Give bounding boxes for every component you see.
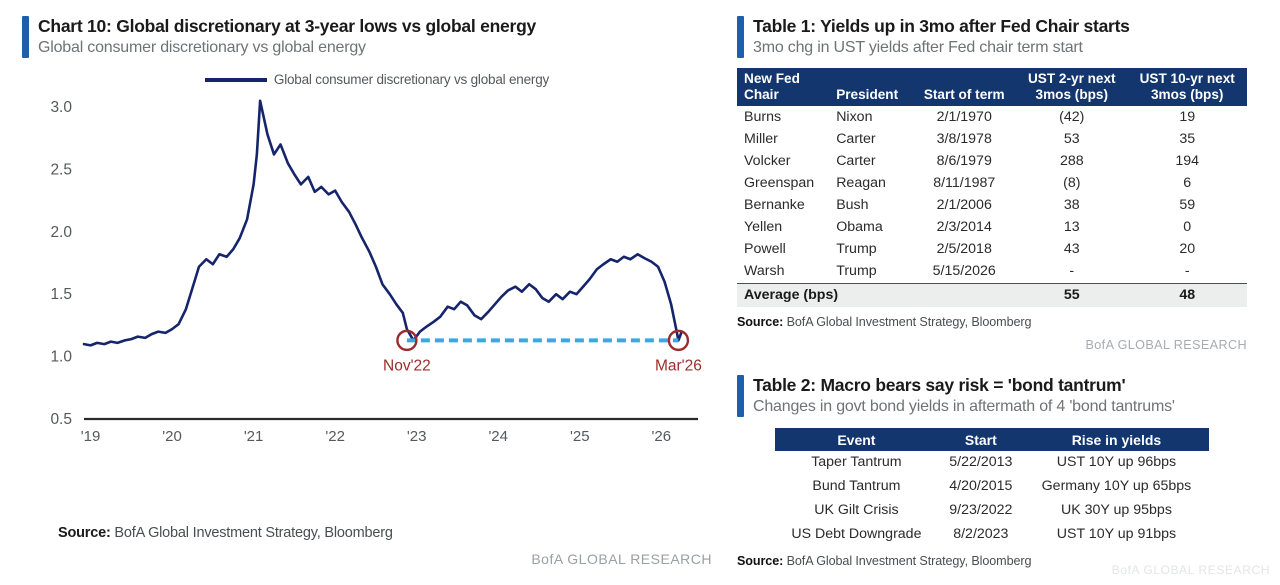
cell-event: UK Gilt Crisis bbox=[775, 499, 938, 523]
cell-start: 8/2/2023 bbox=[938, 523, 1024, 547]
col-rise-in-yields: Rise in yields bbox=[1024, 428, 1209, 451]
cell-president: Carter bbox=[829, 128, 912, 150]
table-row: PowellTrump2/5/20184320 bbox=[737, 239, 1247, 261]
col-start: Start bbox=[938, 428, 1024, 451]
col-ust2-line2: 3mos (bps) bbox=[1036, 87, 1109, 102]
col-start-of-term: Start of term bbox=[912, 68, 1016, 106]
cell-ust10yr: 35 bbox=[1127, 128, 1247, 150]
cell-president: Reagan bbox=[829, 173, 912, 195]
cell-start-of-term: 2/1/2006 bbox=[912, 195, 1016, 217]
table-row: Bund Tantrum4/20/2015Germany 10Y up 65bp… bbox=[775, 475, 1209, 499]
table1-body: BurnsNixon2/1/1970(42)19MillerCarter3/8/… bbox=[737, 106, 1247, 306]
col-ust2-line1: UST 2-yr next bbox=[1028, 71, 1116, 86]
table2-wrapper: Event Start Rise in yields Taper Tantrum… bbox=[737, 428, 1247, 546]
col-event: Event bbox=[775, 428, 938, 451]
annotation-label: Nov'22 bbox=[383, 358, 431, 375]
x-axis-tick-label: '26 bbox=[652, 428, 672, 445]
cell-event: Taper Tantrum bbox=[775, 451, 938, 475]
cell-president: Nixon bbox=[829, 106, 912, 128]
table-row: VolckerCarter8/6/1979288194 bbox=[737, 150, 1247, 172]
cell-ust10yr: 0 bbox=[1127, 217, 1247, 239]
cell-ust10yr: 20 bbox=[1127, 239, 1247, 261]
cell-chair: Greenspan bbox=[737, 173, 829, 195]
x-axis-tick-label: '24 bbox=[488, 428, 508, 445]
cell-president: Bush bbox=[829, 195, 912, 217]
col-ust10yr: UST 10-yr next 3mos (bps) bbox=[1127, 68, 1247, 106]
table-row: MillerCarter3/8/19785335 bbox=[737, 128, 1247, 150]
average-ust2yr: 55 bbox=[1016, 283, 1127, 307]
chart-brand: BofA GLOBAL RESEARCH bbox=[531, 551, 712, 569]
cell-ust2yr: 43 bbox=[1016, 239, 1127, 261]
chart-source: Source: BofA Global Investment Strategy,… bbox=[58, 524, 393, 542]
cell-ust10yr: 6 bbox=[1127, 173, 1247, 195]
data-series-line bbox=[84, 101, 682, 346]
table1-source-value: BofA Global Investment Strategy, Bloombe… bbox=[783, 315, 1031, 329]
legend-label: Global consumer discretionary vs global … bbox=[274, 72, 549, 87]
table2-head: Event Start Rise in yields bbox=[775, 428, 1209, 451]
cell-rise-in-yields: UST 10Y up 96bps bbox=[1024, 451, 1209, 475]
y-axis-tick-label: 2.0 bbox=[50, 224, 72, 241]
table1-title: Table 1: Yields up in 3mo after Fed Chai… bbox=[753, 16, 1130, 37]
table1-average-row: Average (bps)5548 bbox=[737, 283, 1247, 307]
accent-bar bbox=[737, 375, 744, 417]
table-row: WarshTrump5/15/2026-- bbox=[737, 261, 1247, 284]
legend-line-swatch bbox=[205, 78, 267, 82]
cell-event: US Debt Downgrade bbox=[775, 523, 938, 547]
cell-start-of-term: 5/15/2026 bbox=[912, 261, 1016, 284]
table2: Event Start Rise in yields Taper Tantrum… bbox=[775, 428, 1209, 546]
cell-president: Trump bbox=[829, 261, 912, 284]
page-watermark: BofA GLOBAL RESEARCH bbox=[1112, 563, 1270, 577]
x-axis-tick-label: '25 bbox=[570, 428, 590, 445]
table2-source-value: BofA Global Investment Strategy, Bloombe… bbox=[783, 554, 1031, 568]
average-ust10yr: 48 bbox=[1127, 283, 1247, 307]
table1-title-group: Table 1: Yields up in 3mo after Fed Chai… bbox=[753, 16, 1130, 58]
table2-source-label: Source: bbox=[737, 554, 783, 568]
y-axis-tick-label: 1.5 bbox=[50, 287, 72, 304]
table2-panel: Table 2: Macro bears say risk = 'bond ta… bbox=[737, 375, 1247, 568]
table2-subtitle: Changes in govt bond yields in aftermath… bbox=[753, 397, 1175, 417]
x-axis-tick-label: '23 bbox=[407, 428, 427, 445]
chart-legend: Global consumer discretionary vs global … bbox=[22, 72, 712, 87]
x-axis-tick-label: '21 bbox=[244, 428, 264, 445]
cell-event: Bund Tantrum bbox=[775, 475, 938, 499]
table1-panel: Table 1: Yields up in 3mo after Fed Chai… bbox=[737, 16, 1247, 352]
chart-source-text: Source: BofA Global Investment Strategy,… bbox=[58, 525, 393, 541]
cell-ust10yr: 194 bbox=[1127, 150, 1247, 172]
col-ust10-line1: UST 10-yr next bbox=[1140, 71, 1235, 86]
table1-brand-text: BofA GLOBAL RESEARCH bbox=[1085, 338, 1247, 352]
col-president-line2: President bbox=[836, 87, 898, 102]
accent-bar bbox=[737, 16, 744, 58]
annotation-label: Mar'26 bbox=[655, 358, 702, 375]
chart-source-label: Source: bbox=[58, 525, 111, 541]
average-label: Average (bps) bbox=[737, 283, 1016, 307]
cell-chair: Powell bbox=[737, 239, 829, 261]
table-row: YellenObama2/3/2014130 bbox=[737, 217, 1247, 239]
cell-ust2yr: - bbox=[1016, 261, 1127, 284]
cell-ust2yr: (8) bbox=[1016, 173, 1127, 195]
x-axis-tick-label: '20 bbox=[162, 428, 182, 445]
y-axis-tick-label: 0.5 bbox=[50, 411, 72, 428]
cell-chair: Bernanke bbox=[737, 195, 829, 217]
cell-start-of-term: 3/8/1978 bbox=[912, 128, 1016, 150]
x-axis-tick-label: '19 bbox=[81, 428, 101, 445]
cell-start: 9/23/2022 bbox=[938, 499, 1024, 523]
table-row: Taper Tantrum5/22/2013UST 10Y up 96bps bbox=[775, 451, 1209, 475]
table2-title-group: Table 2: Macro bears say risk = 'bond ta… bbox=[753, 375, 1175, 417]
cell-president: Carter bbox=[829, 150, 912, 172]
table-row: US Debt Downgrade8/2/2023UST 10Y up 91bp… bbox=[775, 523, 1209, 547]
chart-subtitle: Global consumer discretionary vs global … bbox=[38, 38, 536, 58]
chart-title: Chart 10: Global discretionary at 3-year… bbox=[38, 16, 536, 37]
plot-area: 0.51.01.52.02.53.0'19'20'21'22'23'24'25'… bbox=[22, 89, 712, 459]
col-chair-line1: New Fed bbox=[744, 71, 800, 86]
cell-ust2yr: 53 bbox=[1016, 128, 1127, 150]
cell-chair: Yellen bbox=[737, 217, 829, 239]
cell-start-of-term: 2/3/2014 bbox=[912, 217, 1016, 239]
chart-header: Chart 10: Global discretionary at 3-year… bbox=[22, 16, 712, 58]
cell-chair: Miller bbox=[737, 128, 829, 150]
cell-start-of-term: 2/5/2018 bbox=[912, 239, 1016, 261]
col-start-line2: Start of term bbox=[924, 87, 1005, 102]
table-row: UK Gilt Crisis9/23/2022UK 30Y up 95bps bbox=[775, 499, 1209, 523]
cell-ust2yr: 38 bbox=[1016, 195, 1127, 217]
cell-chair: Burns bbox=[737, 106, 829, 128]
cell-president: Obama bbox=[829, 217, 912, 239]
table1-source: Source: BofA Global Investment Strategy,… bbox=[737, 315, 1247, 329]
table-row: BurnsNixon2/1/1970(42)19 bbox=[737, 106, 1247, 128]
table1-brand: BofA GLOBAL RESEARCH bbox=[737, 338, 1247, 352]
chart-source-value: BofA Global Investment Strategy, Bloombe… bbox=[111, 525, 393, 541]
table-row: GreenspanReagan8/11/1987(8)6 bbox=[737, 173, 1247, 195]
cell-start-of-term: 8/6/1979 bbox=[912, 150, 1016, 172]
cell-ust2yr: 13 bbox=[1016, 217, 1127, 239]
col-chair: New Fed Chair bbox=[737, 68, 829, 106]
line-chart-svg: 0.51.01.52.02.53.0'19'20'21'22'23'24'25'… bbox=[22, 89, 712, 459]
table1-subtitle: 3mo chg in UST yields after Fed chair te… bbox=[753, 38, 1130, 58]
cell-ust10yr: - bbox=[1127, 261, 1247, 284]
y-axis-tick-label: 1.0 bbox=[50, 349, 72, 366]
table2-title: Table 2: Macro bears say risk = 'bond ta… bbox=[753, 375, 1175, 396]
chart-panel: Chart 10: Global discretionary at 3-year… bbox=[22, 16, 712, 571]
chart-brand-text: BofA GLOBAL RESEARCH bbox=[531, 551, 712, 567]
table1-head: New Fed Chair President Start of term bbox=[737, 68, 1247, 106]
cell-start-of-term: 2/1/1970 bbox=[912, 106, 1016, 128]
cell-rise-in-yields: UST 10Y up 91bps bbox=[1024, 523, 1209, 547]
cell-ust2yr: (42) bbox=[1016, 106, 1127, 128]
cell-start-of-term: 8/11/1987 bbox=[912, 173, 1016, 195]
col-ust10-line2: 3mos (bps) bbox=[1151, 87, 1224, 102]
cell-rise-in-yields: Germany 10Y up 65bps bbox=[1024, 475, 1209, 499]
table1-wrapper: New Fed Chair President Start of term bbox=[737, 68, 1247, 306]
report-page: Chart 10: Global discretionary at 3-year… bbox=[0, 0, 1280, 585]
cell-start: 5/22/2013 bbox=[938, 451, 1024, 475]
table1-header: Table 1: Yields up in 3mo after Fed Chai… bbox=[737, 16, 1247, 58]
table2-body: Taper Tantrum5/22/2013UST 10Y up 96bpsBu… bbox=[775, 451, 1209, 546]
table-row: BernankeBush2/1/20063859 bbox=[737, 195, 1247, 217]
cell-chair: Warsh bbox=[737, 261, 829, 284]
cell-ust2yr: 288 bbox=[1016, 150, 1127, 172]
accent-bar bbox=[22, 16, 29, 58]
table1: New Fed Chair President Start of term bbox=[737, 68, 1247, 306]
cell-ust10yr: 19 bbox=[1127, 106, 1247, 128]
table1-header-row: New Fed Chair President Start of term bbox=[737, 68, 1247, 106]
table2-header-row: Event Start Rise in yields bbox=[775, 428, 1209, 451]
table1-source-label: Source: bbox=[737, 315, 783, 329]
cell-chair: Volcker bbox=[737, 150, 829, 172]
cell-ust10yr: 59 bbox=[1127, 195, 1247, 217]
y-axis-tick-label: 2.5 bbox=[50, 162, 72, 179]
col-president: President bbox=[829, 68, 912, 106]
col-chair-line2: Chair bbox=[744, 87, 779, 102]
table2-header: Table 2: Macro bears say risk = 'bond ta… bbox=[737, 375, 1247, 417]
y-axis-tick-label: 3.0 bbox=[50, 99, 72, 116]
col-ust2yr: UST 2-yr next 3mos (bps) bbox=[1016, 68, 1127, 106]
cell-start: 4/20/2015 bbox=[938, 475, 1024, 499]
cell-rise-in-yields: UK 30Y up 95bps bbox=[1024, 499, 1209, 523]
cell-president: Trump bbox=[829, 239, 912, 261]
x-axis-tick-label: '22 bbox=[325, 428, 345, 445]
chart-title-group: Chart 10: Global discretionary at 3-year… bbox=[38, 16, 536, 58]
